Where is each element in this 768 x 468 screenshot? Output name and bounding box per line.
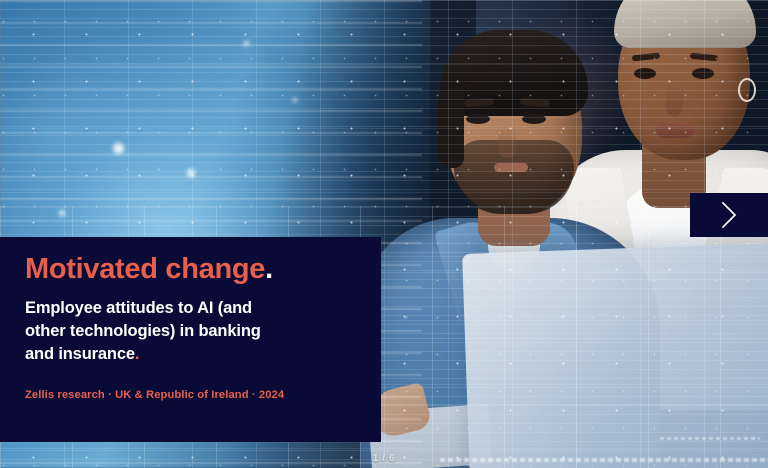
title-panel: Motivated change. Employee attitudes to … — [0, 237, 381, 442]
page-title: Motivated change. — [25, 255, 357, 285]
subtitle-line-1: Employee attitudes to AI (and — [25, 299, 252, 317]
next-slide-button[interactable] — [690, 193, 768, 237]
bokeh-dot — [187, 169, 195, 177]
bokeh-dot — [293, 98, 297, 102]
subtitle-line-3: and insurance — [25, 345, 135, 363]
byline: Zellis research · UK & Republic of Irela… — [25, 389, 357, 401]
bokeh-dot — [59, 210, 65, 216]
bokeh-dot — [113, 143, 124, 154]
subtitle-line-2: other technologies) in banking — [25, 322, 261, 340]
presentation-slide: Motivated change. Employee attitudes to … — [0, 0, 768, 468]
foreground-data-text — [660, 437, 760, 440]
bokeh-dot — [244, 41, 249, 46]
page-indicator: 1 / 6 — [0, 453, 768, 464]
chevron-right-icon — [719, 200, 739, 230]
headline-text: Motivated change — [25, 253, 265, 285]
subtitle: Employee attitudes to AI (andother techn… — [25, 297, 357, 367]
headline-period: . — [265, 253, 273, 285]
subtitle-period: . — [135, 345, 139, 363]
